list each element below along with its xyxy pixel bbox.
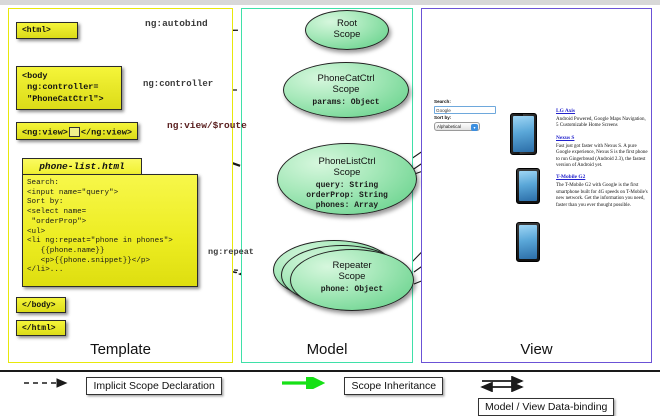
list-item: T-Mobile G2 The T-Mobile G2 with Google …: [556, 174, 648, 209]
phone-list: LG Axis Android Powered, Google Maps Nav…: [556, 108, 648, 214]
scope-phonecatctrl: PhoneCatCtrl Scope params: Object: [283, 62, 409, 118]
phone-snippet: Fast just got faster with Nexus S. A pur…: [556, 144, 648, 170]
phone-link[interactable]: Nexus S: [556, 135, 648, 142]
double-arrow-icon: [478, 376, 530, 397]
phone-thumbnail-3: [516, 222, 540, 262]
view-search-form: Search: Google Sort by: Alphabetical▾: [434, 99, 500, 131]
sort-select-value: Alphabetical: [437, 124, 461, 129]
ngview-open-tag: <ng:view>: [22, 127, 68, 137]
label-ng-autobind: ng:autobind: [145, 18, 208, 29]
code-box-body-open: <body ng:controller= "PhoneCatCtrl">: [16, 66, 122, 110]
phone-link[interactable]: T-Mobile G2: [556, 174, 648, 181]
legend-item-implicit: Implicit Scope Declaration: [22, 376, 222, 398]
scope-phonecatctrl-name: PhoneCatCtrl Scope: [284, 74, 408, 95]
legend-item-inheritance: Scope Inheritance: [280, 376, 443, 398]
template-column-title: Template: [9, 341, 232, 358]
dashed-arrow-icon: [22, 376, 74, 394]
model-column-title: Model: [242, 341, 412, 358]
phone-thumbnail-2: [516, 168, 540, 204]
legend-label-databinding: Model / View Data-binding: [478, 398, 614, 416]
phone-snippet: Android Powered, Google Maps Navigation,…: [556, 117, 648, 130]
list-item: LG Axis Android Powered, Google Maps Nav…: [556, 108, 648, 130]
phone-link[interactable]: LG Axis: [556, 108, 648, 115]
chevron-down-icon: ▾: [471, 124, 478, 131]
legend-item-databinding: Model / View Data-binding: [478, 376, 660, 398]
legend: Implicit Scope Declaration Scope Inherit…: [0, 372, 660, 405]
scope-phonelistctrl-props: query: String orderProp: String phones: …: [278, 181, 416, 211]
search-label: Search:: [434, 99, 500, 105]
phone-thumbnail-1: [510, 113, 537, 155]
code-box-ngview: <ng:view></ng:view>: [16, 122, 138, 140]
code-box-body-close: </body>: [16, 297, 66, 313]
legend-label-implicit: Implicit Scope Declaration: [86, 377, 221, 395]
scope-phonelistctrl: PhoneListCtrl Scope query: String orderP…: [277, 143, 417, 215]
partial-code-block: Search: <input name="query"> Sort by: <s…: [22, 174, 198, 287]
partial-filename-tab: phone-list.html: [22, 158, 142, 175]
diagram-stage: Template <html> <body ng:controller= "Ph…: [0, 0, 660, 405]
scope-repeater: Repeater Scope phone: Object: [290, 249, 414, 311]
code-box-html-open: <html>: [16, 22, 78, 39]
scope-root: Root Scope: [305, 10, 389, 50]
sort-select[interactable]: Alphabetical▾: [434, 122, 480, 131]
scope-root-name: Root Scope: [306, 19, 388, 40]
scope-phonecatctrl-props: params: Object: [284, 98, 408, 108]
ngview-slot-icon: [69, 127, 80, 137]
scope-repeater-props: phone: Object: [291, 285, 413, 295]
label-ng-repeat: ng:repeat: [208, 247, 254, 257]
green-arrow-icon: [280, 376, 332, 394]
code-box-html-close: </html>: [16, 320, 66, 336]
view-column-title: View: [422, 341, 651, 358]
scope-phonelistctrl-name: PhoneListCtrl Scope: [278, 157, 416, 178]
label-ng-view-route: ng:view/$route: [167, 120, 247, 131]
label-ng-controller: ng:controller: [143, 79, 213, 89]
scope-repeater-name: Repeater Scope: [291, 261, 413, 282]
ngview-close-tag: </ng:view>: [81, 127, 132, 137]
list-item: Nexus S Fast just got faster with Nexus …: [556, 135, 648, 170]
phone-snippet: The T-Mobile G2 with Google is the first…: [556, 183, 648, 209]
search-input[interactable]: Google: [434, 106, 496, 114]
legend-label-inheritance: Scope Inheritance: [344, 377, 443, 395]
sort-label: Sort by:: [434, 115, 500, 121]
